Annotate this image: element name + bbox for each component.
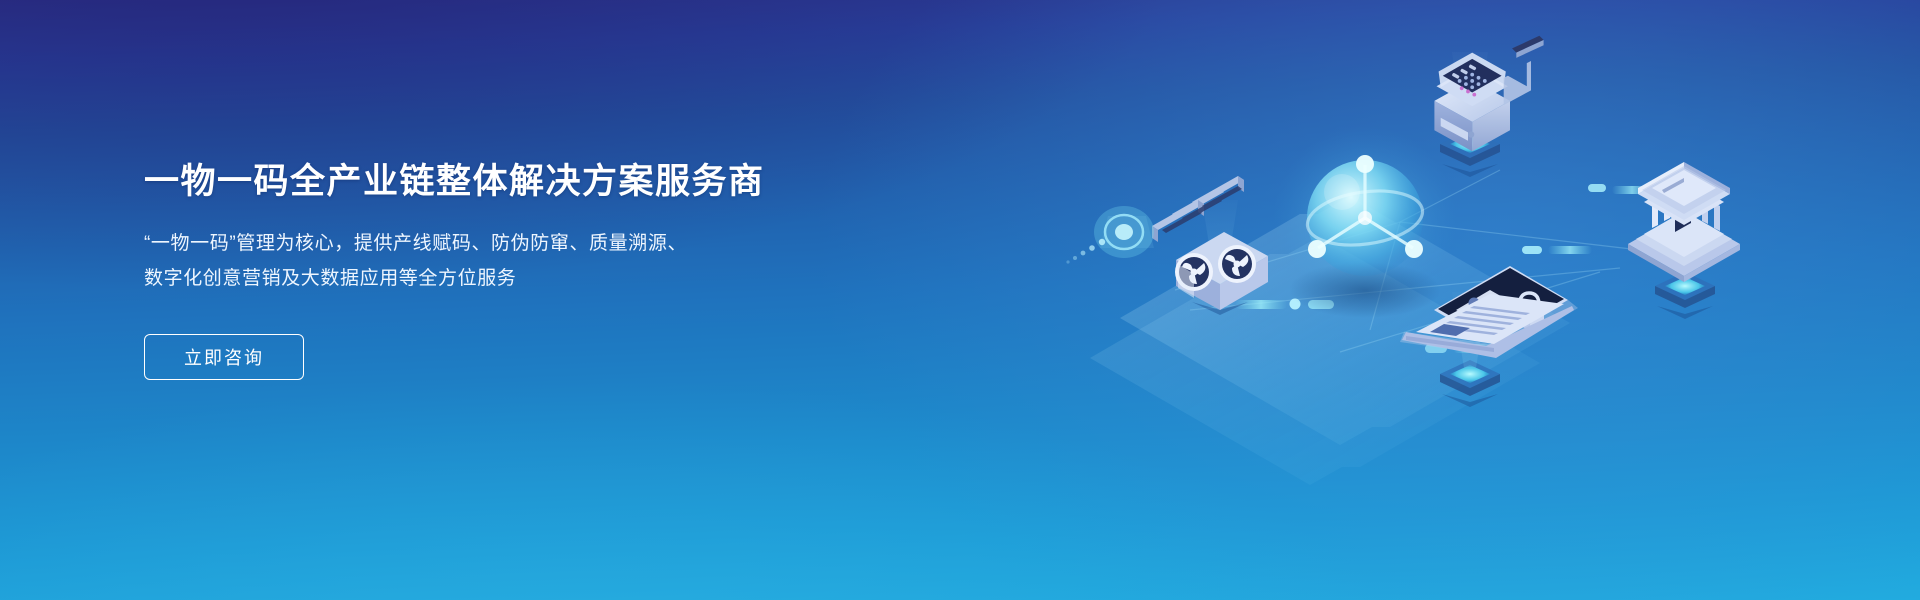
- consult-now-button[interactable]: 立即咨询: [144, 334, 304, 380]
- page-title: 一物一码全产业链整体解决方案服务商: [144, 160, 864, 204]
- hero-subtitle: “一物一码”管理为核心，提供产线赋码、防伪防窜、质量溯源、 数字化创意营销及大数…: [144, 226, 864, 296]
- chip-emitter-icon: [1066, 206, 1154, 264]
- network-sphere-icon: [1273, 126, 1457, 318]
- bank-building-icon: [1628, 146, 1740, 282]
- hero-copy: 一物一码全产业链整体解决方案服务商 “一物一码”管理为核心，提供产线赋码、防伪防…: [144, 160, 864, 380]
- hero-subtitle-line-2: 数字化创意营销及大数据应用等全方位服务: [144, 261, 864, 296]
- hero-illustration: [1040, 0, 1920, 600]
- hero-banner: 一物一码全产业链整体解决方案服务商 “一物一码”管理为核心，提供产线赋码、防伪防…: [0, 0, 1920, 600]
- pos-terminal-icon: [1434, 36, 1543, 151]
- hero-subtitle-line-1: “一物一码”管理为核心，提供产线赋码、防伪防窜、质量溯源、: [144, 226, 864, 261]
